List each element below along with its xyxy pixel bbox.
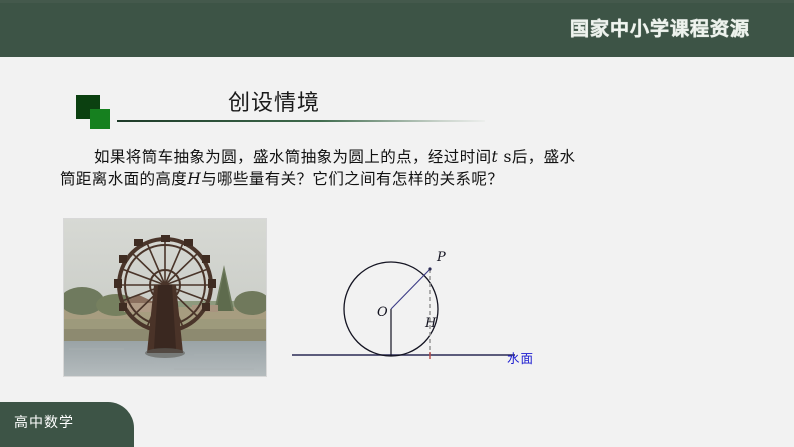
section-title-rule bbox=[117, 120, 485, 122]
diagram-label-water-surface: 水面 bbox=[507, 348, 534, 367]
content-paragraph: 如果将筒车抽象为圆，盛水筒抽象为圆上的点，经过时间t s后，盛水筒距离水面的高度… bbox=[60, 146, 580, 190]
section-title: 创设情境 bbox=[228, 85, 320, 117]
water-wheel-photo bbox=[63, 218, 267, 377]
section-decoration-squares bbox=[76, 95, 116, 131]
square-light-icon bbox=[90, 109, 110, 129]
header-brand-title: 国家中小学课程资源 bbox=[570, 14, 750, 41]
radius-op-line bbox=[391, 269, 430, 309]
header-band: 国家中小学课程资源 bbox=[0, 0, 794, 57]
diagram-label-p: P bbox=[437, 250, 446, 265]
geometry-diagram: P O H 水面 bbox=[285, 235, 575, 385]
paragraph-part-3: 与哪些量有关？它们之间有怎样的关系呢？ bbox=[201, 170, 503, 188]
footer-subject-label: 高中数学 bbox=[14, 412, 74, 432]
paragraph-variable-h: H bbox=[187, 170, 201, 188]
point-p-marker bbox=[428, 267, 431, 270]
diagram-label-h: H bbox=[425, 316, 436, 331]
diagram-label-o: O bbox=[377, 305, 388, 320]
slide-canvas: 国家中小学课程资源 创设情境 如果将筒车抽象为圆，盛水筒抽象为圆上的点，经过时间… bbox=[0, 0, 794, 447]
paragraph-part-1: 如果将筒车抽象为圆，盛水筒抽象为圆上的点，经过时间 bbox=[94, 148, 492, 166]
water-wheel-illustration bbox=[64, 219, 266, 376]
